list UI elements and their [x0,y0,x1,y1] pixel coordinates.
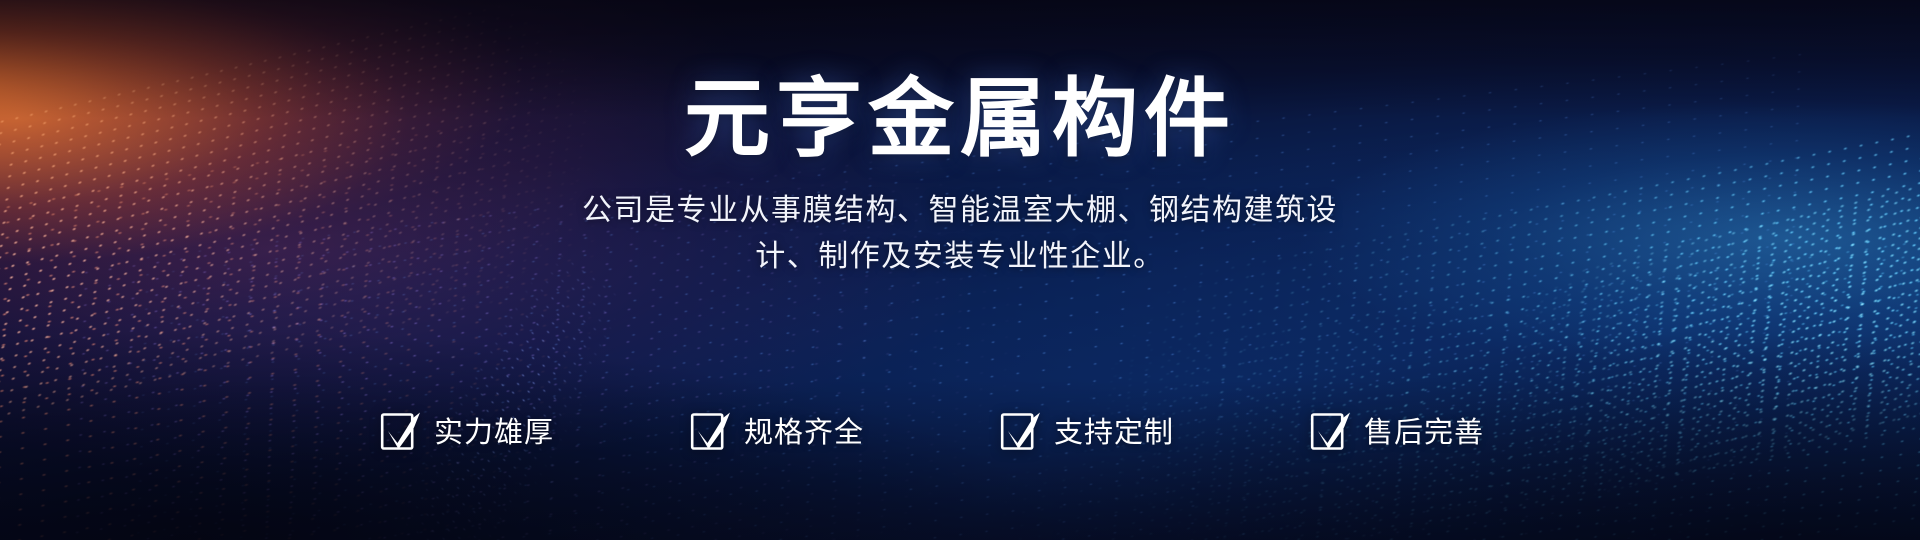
feature-label: 规格齐全 [744,409,864,451]
banner-content: 元亨金属构件 公司是专业从事膜结构、智能温室大棚、钢结构建筑设 计、制作及安装专… [0,0,1920,540]
feature-item: 规格齐全 [690,408,920,452]
checkbox-checked-icon [690,408,732,452]
feature-list: 实力雄厚 规格齐全 支持定制 [0,408,1920,452]
feature-item: 支持定制 [1000,408,1230,452]
feature-item: 售后完善 [1310,408,1540,452]
feature-label: 支持定制 [1054,409,1174,451]
hero-banner: 元亨金属构件 公司是专业从事膜结构、智能温室大棚、钢结构建筑设 计、制作及安装专… [0,0,1920,540]
feature-label: 售后完善 [1364,409,1484,451]
checkbox-checked-icon [1000,408,1042,452]
banner-subtitle-line-1: 公司是专业从事膜结构、智能温室大棚、钢结构建筑设 [510,188,1410,234]
banner-subtitle: 公司是专业从事膜结构、智能温室大棚、钢结构建筑设 计、制作及安装专业性企业。 [510,188,1410,279]
banner-title: 元亨金属构件 [684,76,1236,162]
banner-subtitle-line-2: 计、制作及安装专业性企业。 [510,234,1410,280]
feature-label: 实力雄厚 [434,409,554,451]
feature-item: 实力雄厚 [380,408,610,452]
checkbox-checked-icon [380,408,422,452]
checkbox-checked-icon [1310,408,1352,452]
